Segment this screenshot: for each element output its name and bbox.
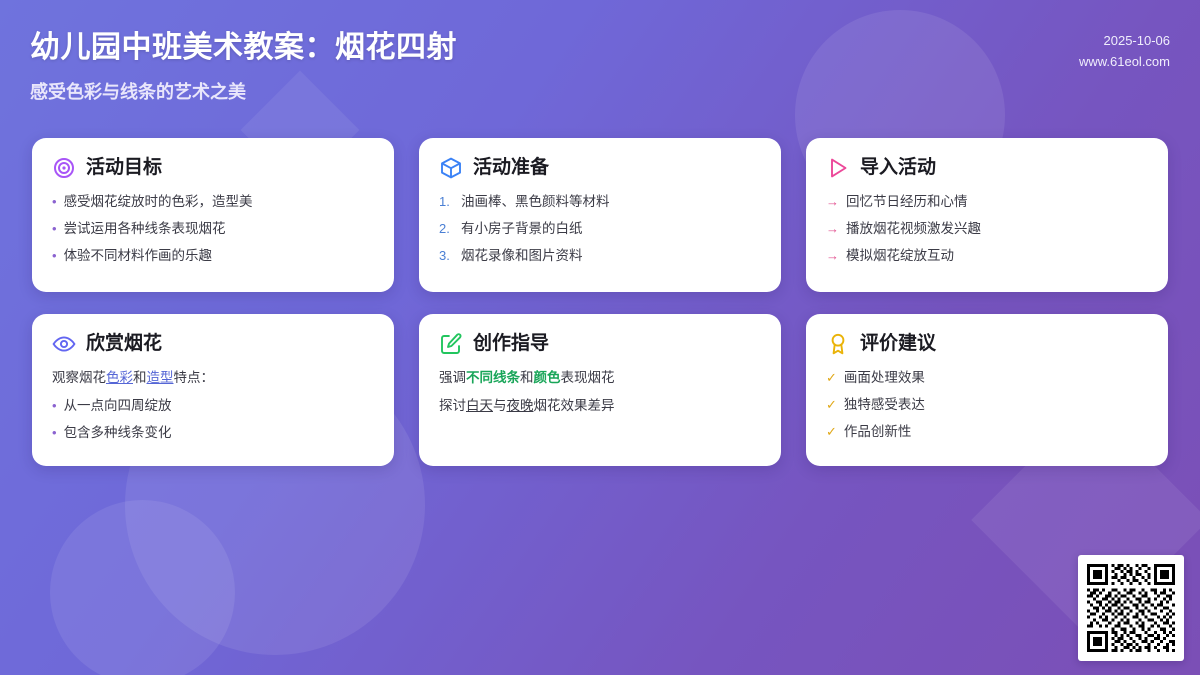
list-item: →播放烟花视频激发兴趣 [826, 220, 1148, 238]
text-part: 强调 [439, 370, 466, 385]
list-item-text: 体验不同材料作画的乐趣 [64, 247, 213, 265]
card-preparation[interactable]: 活动准备 1.油画棒、黑色颜料等材料 2.有小房子背景的白纸 3.烟花录像和图片… [419, 138, 781, 292]
list-item-text: 独特感受表达 [844, 396, 925, 414]
guidance-line-2: 探讨白天与夜晚烟花效果差异 [439, 397, 761, 415]
list-item: •从一点向四周绽放 [52, 397, 374, 415]
eye-icon [52, 332, 76, 356]
list-item-text: 作品创新性 [844, 423, 912, 441]
text-part: 探讨 [439, 398, 466, 413]
qr-code[interactable] [1078, 555, 1184, 661]
bullet-dot-icon: • [52, 247, 57, 265]
list-item-text: 画面处理效果 [844, 369, 925, 387]
card-title: 活动目标 [86, 156, 162, 180]
list-item-text: 有小房子背景的白纸 [461, 220, 583, 238]
underline-night: 夜晚 [507, 398, 534, 413]
list-number: 2. [439, 220, 454, 238]
list-item-text: 感受烟花绽放时的色彩，造型美 [64, 193, 253, 211]
decorative-circle-bottom-left [50, 500, 235, 675]
box-icon [439, 156, 463, 180]
card-header: 活动目标 [52, 156, 374, 180]
emphasis-lines: 不同线条 [466, 370, 520, 385]
card-header: 创作指导 [439, 332, 761, 356]
introduction-list: →回忆节日经历和心情 →播放烟花视频激发兴趣 →模拟烟花绽放互动 [826, 193, 1148, 265]
bullet-dot-icon: • [52, 397, 57, 415]
text-part: 和 [520, 370, 534, 385]
list-item: •包含多种线条变化 [52, 424, 374, 442]
text-part: 表现烟花 [561, 370, 615, 385]
text-part: 烟花效果差异 [534, 398, 615, 413]
list-number: 3. [439, 247, 454, 265]
card-header: 活动准备 [439, 156, 761, 180]
card-evaluation[interactable]: 评价建议 ✓画面处理效果 ✓独特感受表达 ✓作品创新性 [806, 314, 1168, 466]
bullet-dot-icon: • [52, 424, 57, 442]
text-part: 与 [493, 398, 507, 413]
card-grid: 活动目标 •感受烟花绽放时的色彩，造型美 •尝试运用各种线条表现烟花 •体验不同… [32, 138, 1168, 466]
emphasis-colors: 颜色 [534, 370, 561, 385]
award-icon [826, 332, 850, 356]
guidance-line-1: 强调不同线条和颜色表现烟花 [439, 369, 761, 387]
play-icon [826, 156, 850, 180]
list-item-text: 油画棒、黑色颜料等材料 [461, 193, 610, 211]
slide-root: 幼儿园中班美术教案：烟花四射 感受色彩与线条的艺术之美 2025-10-06 w… [0, 0, 1200, 675]
page-title: 幼儿园中班美术教案：烟花四射 [30, 22, 457, 66]
check-icon: ✓ [826, 369, 837, 387]
card-title: 欣赏烟花 [86, 332, 162, 356]
card-title: 活动准备 [473, 156, 549, 180]
target-icon [52, 156, 76, 180]
list-item: ✓画面处理效果 [826, 369, 1148, 387]
card-introduction[interactable]: 导入活动 →回忆节日经历和心情 →播放烟花视频激发兴趣 →模拟烟花绽放互动 [806, 138, 1168, 292]
slide-header: 幼儿园中班美术教案：烟花四射 感受色彩与线条的艺术之美 2025-10-06 w… [0, 0, 1200, 120]
lead-part: 观察烟花 [52, 370, 106, 385]
highlight-link-color[interactable]: 色彩 [106, 370, 133, 385]
appreciate-list: •从一点向四周绽放 •包含多种线条变化 [52, 397, 374, 442]
list-item-text: 回忆节日经历和心情 [846, 193, 968, 211]
list-item: •体验不同材料作画的乐趣 [52, 247, 374, 265]
lead-part: 和 [133, 370, 147, 385]
list-item: 3.烟花录像和图片资料 [439, 247, 761, 265]
card-title: 创作指导 [473, 332, 549, 356]
objectives-list: •感受烟花绽放时的色彩，造型美 •尝试运用各种线条表现烟花 •体验不同材料作画的… [52, 193, 374, 265]
card-appreciate[interactable]: 欣赏烟花 观察烟花色彩和造型特点： •从一点向四周绽放 •包含多种线条变化 [32, 314, 394, 466]
evaluation-list: ✓画面处理效果 ✓独特感受表达 ✓作品创新性 [826, 369, 1148, 441]
page-subtitle: 感受色彩与线条的艺术之美 [30, 78, 246, 104]
card-title: 评价建议 [860, 332, 936, 356]
lead-part: 特点： [174, 370, 215, 385]
list-item: →回忆节日经历和心情 [826, 193, 1148, 211]
edit-icon [439, 332, 463, 356]
arrow-right-icon: → [826, 193, 839, 211]
check-icon: ✓ [826, 423, 837, 441]
list-item: •感受烟花绽放时的色彩，造型美 [52, 193, 374, 211]
appreciate-lead: 观察烟花色彩和造型特点： [52, 369, 374, 387]
bullet-dot-icon: • [52, 193, 57, 211]
list-item: ✓独特感受表达 [826, 396, 1148, 414]
card-header: 导入活动 [826, 156, 1148, 180]
list-item-text: 从一点向四周绽放 [64, 397, 172, 415]
preparation-list: 1.油画棒、黑色颜料等材料 2.有小房子背景的白纸 3.烟花录像和图片资料 [439, 193, 761, 265]
header-meta: 2025-10-06 www.61eol.com [1079, 30, 1170, 72]
list-item: →模拟烟花绽放互动 [826, 247, 1148, 265]
card-guidance[interactable]: 创作指导 强调不同线条和颜色表现烟花 探讨白天与夜晚烟花效果差异 [419, 314, 781, 466]
arrow-right-icon: → [826, 220, 839, 238]
site-url: www.61eol.com [1079, 51, 1170, 72]
list-item-text: 烟花录像和图片资料 [461, 247, 583, 265]
qr-code-icon [1087, 564, 1175, 652]
card-objectives[interactable]: 活动目标 •感受烟花绽放时的色彩，造型美 •尝试运用各种线条表现烟花 •体验不同… [32, 138, 394, 292]
list-item: 2.有小房子背景的白纸 [439, 220, 761, 238]
date-text: 2025-10-06 [1079, 30, 1170, 51]
list-item: •尝试运用各种线条表现烟花 [52, 220, 374, 238]
list-item-text: 播放烟花视频激发兴趣 [846, 220, 981, 238]
card-title: 导入活动 [860, 156, 936, 180]
list-item: 1.油画棒、黑色颜料等材料 [439, 193, 761, 211]
underline-daytime: 白天 [466, 398, 493, 413]
list-item-text: 模拟烟花绽放互动 [846, 247, 954, 265]
card-header: 欣赏烟花 [52, 332, 374, 356]
list-item-text: 包含多种线条变化 [64, 424, 172, 442]
list-item: ✓作品创新性 [826, 423, 1148, 441]
arrow-right-icon: → [826, 247, 839, 265]
list-item-text: 尝试运用各种线条表现烟花 [64, 220, 226, 238]
check-icon: ✓ [826, 396, 837, 414]
list-number: 1. [439, 193, 454, 211]
card-header: 评价建议 [826, 332, 1148, 356]
highlight-link-shape[interactable]: 造型 [147, 370, 174, 385]
bullet-dot-icon: • [52, 220, 57, 238]
